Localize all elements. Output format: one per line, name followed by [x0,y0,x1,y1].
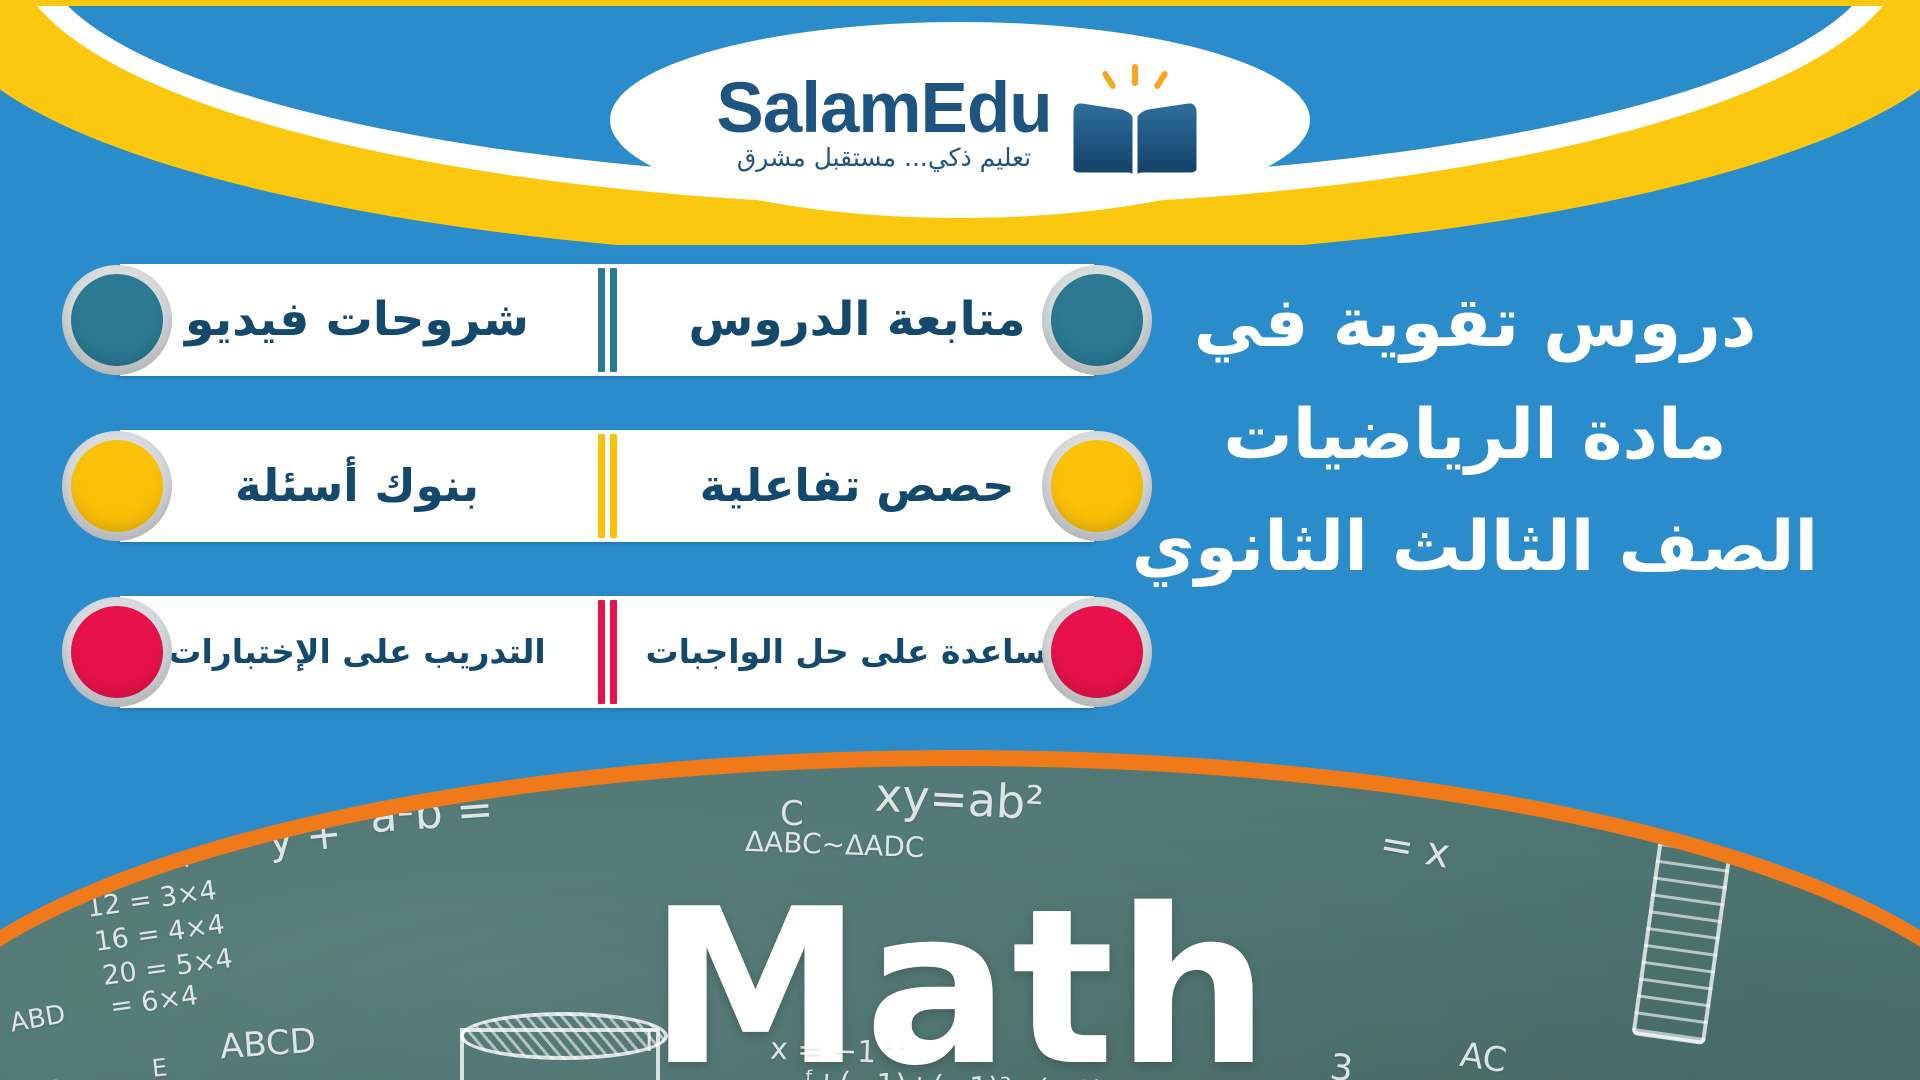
chalkboard-title: Math [649,862,1272,1080]
feature-label-left: بنوك أسئلة [235,462,479,509]
cylinder-sketch-icon [460,1028,660,1080]
feature-divider [594,430,620,542]
feature-cell-right[interactable]: مساعدة على حل الواجبات [620,596,1094,708]
feature-cell-left[interactable]: التدريب على الإختبارات [120,596,594,708]
feature-cell-left[interactable]: بنوك أسئلة [120,430,594,542]
headline: دروس تقوية في مادة الرياضيات الصف الثالث… [1090,268,1860,603]
brand-logo: SalamEdu تعليم ذكي... مستقبل مشرق [716,64,1203,184]
feature-divider [594,264,620,376]
chalk-annotation: ABD [8,999,68,1038]
feature-label-right: متابعة الدروس [689,295,1026,344]
feature-bar-body: حصص تفاعليةبنوك أسئلة [120,430,1094,542]
chalk-annotation: E [151,1053,169,1080]
feature-bar[interactable]: مساعدة على حل الواجباتالتدريب على الإختب… [62,584,1152,720]
feature-cell-right[interactable]: متابعة الدروس [620,264,1094,376]
feature-bar[interactable]: متابعة الدروسشروحات فيديو [62,252,1152,388]
brand-tagline: تعليم ذكي... مستقبل مشرق [716,143,1051,172]
feature-label-right: حصص تفاعلية [700,462,1015,509]
banner-top-edge [0,0,1920,6]
crimson-circle-badge[interactable] [62,597,172,707]
logo-bubble[interactable]: SalamEdu تعليم ذكي... مستقبل مشرق [610,22,1310,218]
brand-wordmark: SalamEdu تعليم ذكي... مستقبل مشرق [716,76,1051,172]
chalk-annotation: x = [1377,820,1454,877]
feature-bar-list: متابعة الدروسشروحات فيديوحصص تفاعليةبنوك… [62,252,1152,720]
feature-label-right: مساعدة على حل الواجبات [645,635,1068,670]
feature-bar-body: متابعة الدروسشروحات فيديو [120,264,1094,376]
ruler-sketch-icon [1631,822,1734,1045]
chalk-annotation: = a²b [368,784,495,843]
headline-line-3: الصف الثالث الثانوي [1090,492,1860,604]
chalkboard: Math 4×1 = 44×2 = 84×3 = 124×4 = 164×5 =… [0,740,1920,1080]
teal-circle-badge[interactable] [62,265,172,375]
feature-bar[interactable]: حصص تفاعليةبنوك أسئلة [62,418,1152,554]
chalkboard-surface: Math 4×1 = 44×2 = 84×3 = 124×4 = 164×5 =… [0,766,1920,1080]
chalk-annotation: ABCD [219,1021,317,1068]
feature-bar-body: مساعدة على حل الواجباتالتدريب على الإختب… [120,596,1094,708]
crimson-circle-badge[interactable] [1042,597,1152,707]
feature-divider [594,596,620,708]
headline-line-2: مادة الرياضيات [1090,380,1860,492]
chalk-annotation: 3 [1328,1047,1355,1080]
open-book-icon [1066,64,1204,184]
chalk-annotation: CA //HG [0,1075,66,1080]
chalk-annotation: xy=ab² [874,768,1045,831]
chalk-annotation: + y [266,808,344,864]
brand-name: SalamEdu [716,76,1051,141]
feature-label-left: التدريب على الإختبارات [168,635,545,670]
feature-cell-right[interactable]: حصص تفاعلية [620,430,1094,542]
amber-circle-badge[interactable] [62,431,172,541]
chalk-annotation: AC [1457,1035,1509,1080]
feature-cell-left[interactable]: شروحات فيديو [120,264,594,376]
chalk-annotation: ΔABC~ΔADC [744,825,925,864]
headline-line-1: دروس تقوية في [1090,268,1860,380]
feature-label-left: شروحات فيديو [185,295,529,344]
chalk-annotation: T [640,1024,658,1059]
